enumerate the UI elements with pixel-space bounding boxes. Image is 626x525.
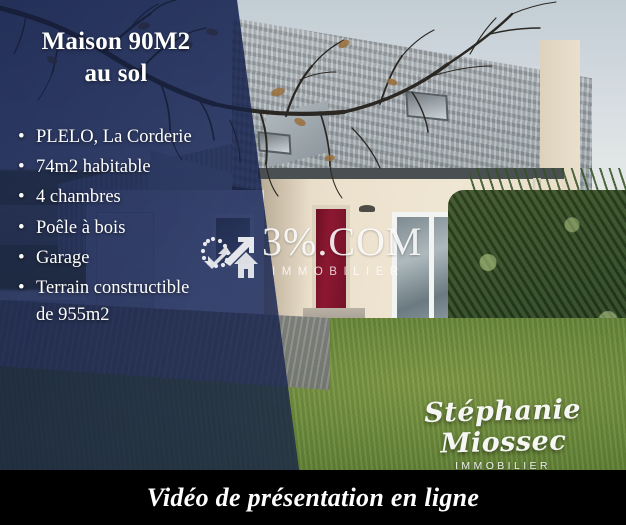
feature-list: PLELO, La Corderie 74m2 habitable 4 cham… [14,124,242,332]
feature-label: 74m2 habitable [36,157,151,177]
list-item: Poêle à bois [14,215,242,242]
footer-text: Vidéo de présentation en ligne [147,483,480,513]
list-item: Garage [14,245,242,272]
feature-label: Terrain constructible [36,278,189,298]
headline-line-1: Maison 90M2 [42,28,191,55]
property-listing-poster: Maison 90M2 au sol PLELO, La Corderie 74… [0,0,626,525]
list-item: Terrain constructible de 955m2 [14,275,242,329]
feature-label: PLELO, La Corderie [36,127,192,147]
headline-line-2: au sol [0,58,232,90]
feature-label: 4 chambres [36,187,121,207]
list-item: 4 chambres [14,184,242,211]
feature-label: Garage [36,248,89,268]
window-mullion [429,212,434,332]
feature-label-continuation: de 955m2 [36,302,242,329]
list-item: 74m2 habitable [14,154,242,181]
list-item: PLELO, La Corderie [14,124,242,151]
page-title: Maison 90M2 au sol [0,26,232,89]
footer-bar: Vidéo de présentation en ligne [0,470,626,525]
feature-label: Poêle à bois [36,218,125,238]
